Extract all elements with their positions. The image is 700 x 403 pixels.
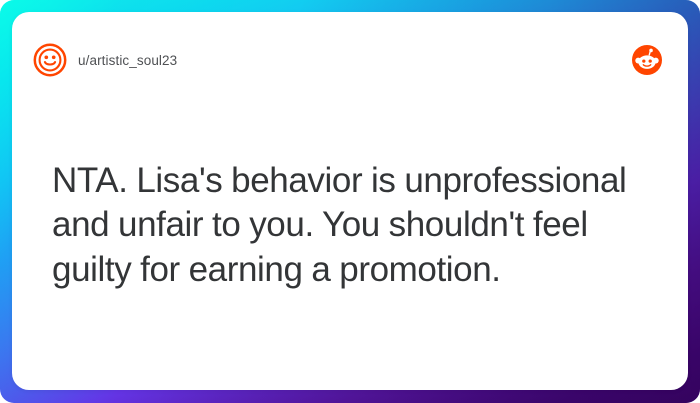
author-block[interactable]: u/artistic_soul23 xyxy=(33,43,177,77)
gradient-backdrop: u/artistic_soul23 NTA. Lis xyxy=(0,0,700,403)
smiley-face-avatar-icon[interactable] xyxy=(33,43,67,77)
card-body: NTA. Lisa's behavior is unprofessional a… xyxy=(52,159,646,292)
card-header: u/artistic_soul23 xyxy=(12,12,688,108)
post-text: NTA. Lisa's behavior is unprofessional a… xyxy=(52,159,646,292)
author-username: u/artistic_soul23 xyxy=(78,53,177,68)
reddit-comment-card: u/artistic_soul23 NTA. Lis xyxy=(12,12,688,390)
reddit-snoo-icon[interactable] xyxy=(632,45,662,75)
